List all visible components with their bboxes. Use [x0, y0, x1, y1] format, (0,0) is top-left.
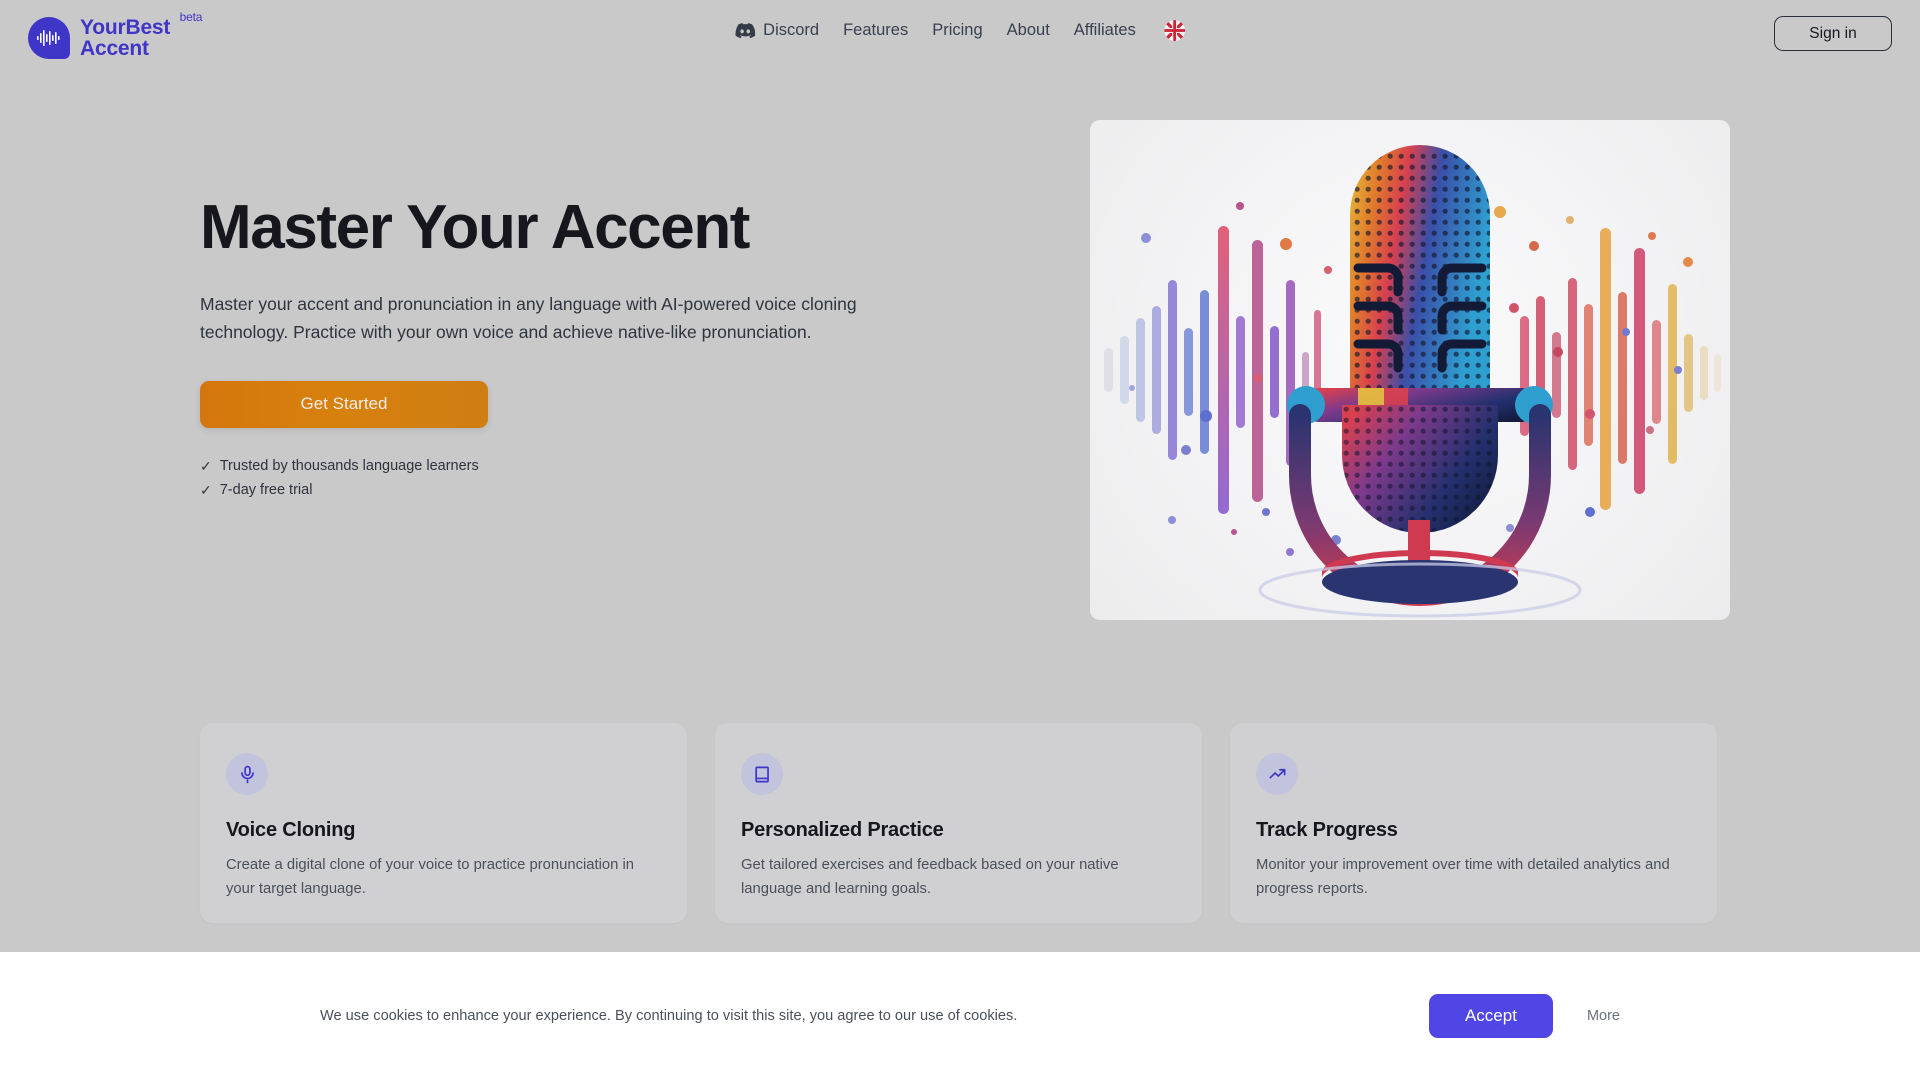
- trust-point-label: 7-day free trial: [220, 480, 313, 501]
- feature-card-track-progress[interactable]: Track Progress Monitor your improvement …: [1230, 723, 1717, 923]
- nav-label-affiliates: Affiliates: [1074, 21, 1136, 40]
- hero-illustration: [1090, 120, 1730, 620]
- accept-cookies-button[interactable]: Accept: [1429, 994, 1553, 1038]
- landing-page: YourBest Accent beta Discord Features Pr…: [0, 0, 1920, 1080]
- feature-cards: Voice Cloning Create a digital clone of …: [200, 723, 1717, 923]
- nav-item-pricing[interactable]: Pricing: [932, 21, 982, 40]
- nav-item-discord[interactable]: Discord: [735, 21, 819, 40]
- feature-card-voice-cloning[interactable]: Voice Cloning Create a digital clone of …: [200, 723, 687, 923]
- nav-label-features: Features: [843, 21, 908, 40]
- brand-logo[interactable]: YourBest Accent beta: [28, 17, 170, 60]
- feature-card-title: Track Progress: [1256, 819, 1691, 842]
- book-icon: [741, 753, 783, 795]
- nav-label-about: About: [1007, 21, 1050, 40]
- feature-card-desc: Get tailored exercises and feedback base…: [741, 854, 1161, 902]
- check-icon: ✓: [200, 456, 212, 476]
- discord-icon: [735, 23, 755, 38]
- trust-points: ✓ Trusted by thousands language learners…: [200, 456, 920, 501]
- hero-section: Master Your Accent Master your accent an…: [200, 195, 920, 504]
- cookie-more-link[interactable]: More: [1587, 1008, 1620, 1024]
- trust-point-label: Trusted by thousands language learners: [220, 456, 479, 477]
- cookie-message: We use cookies to enhance your experienc…: [320, 1008, 1017, 1024]
- brand-name: YourBest Accent beta: [80, 17, 170, 60]
- beta-badge: beta: [180, 11, 203, 23]
- uk-flag-icon[interactable]: [1164, 20, 1185, 41]
- waveform-bubble-icon: [28, 17, 70, 59]
- cookie-actions: Accept More: [1429, 994, 1620, 1038]
- site-header: YourBest Accent beta Discord Features Pr…: [0, 0, 1920, 80]
- brand-name-line1: YourBest: [80, 17, 170, 38]
- feature-card-title: Personalized Practice: [741, 819, 1176, 842]
- nav-item-about[interactable]: About: [1007, 21, 1050, 40]
- microphone-icon: [226, 753, 268, 795]
- trust-point: ✓ 7-day free trial: [200, 480, 920, 501]
- page-title: Master Your Accent: [200, 195, 920, 260]
- nav-label-pricing: Pricing: [932, 21, 982, 40]
- feature-card-personalized-practice[interactable]: Personalized Practice Get tailored exerc…: [715, 723, 1202, 923]
- feature-card-desc: Monitor your improvement over time with …: [1256, 854, 1676, 902]
- sign-in-button[interactable]: Sign in: [1774, 16, 1892, 51]
- brand-name-line2: Accent: [80, 38, 170, 59]
- trending-up-icon: [1256, 753, 1298, 795]
- trust-point: ✓ Trusted by thousands language learners: [200, 456, 920, 477]
- check-icon: ✓: [200, 480, 212, 500]
- feature-card-desc: Create a digital clone of your voice to …: [226, 854, 646, 902]
- feature-card-title: Voice Cloning: [226, 819, 661, 842]
- nav-item-features[interactable]: Features: [843, 21, 908, 40]
- hero-subtitle: Master your accent and pronunciation in …: [200, 290, 900, 347]
- main-nav: Discord Features Pricing About Affiliate…: [735, 20, 1185, 41]
- nav-label-discord: Discord: [763, 21, 819, 40]
- nav-item-affiliates[interactable]: Affiliates: [1074, 21, 1136, 40]
- cookie-banner: We use cookies to enhance your experienc…: [0, 952, 1920, 1080]
- get-started-button[interactable]: Get Started: [200, 381, 488, 428]
